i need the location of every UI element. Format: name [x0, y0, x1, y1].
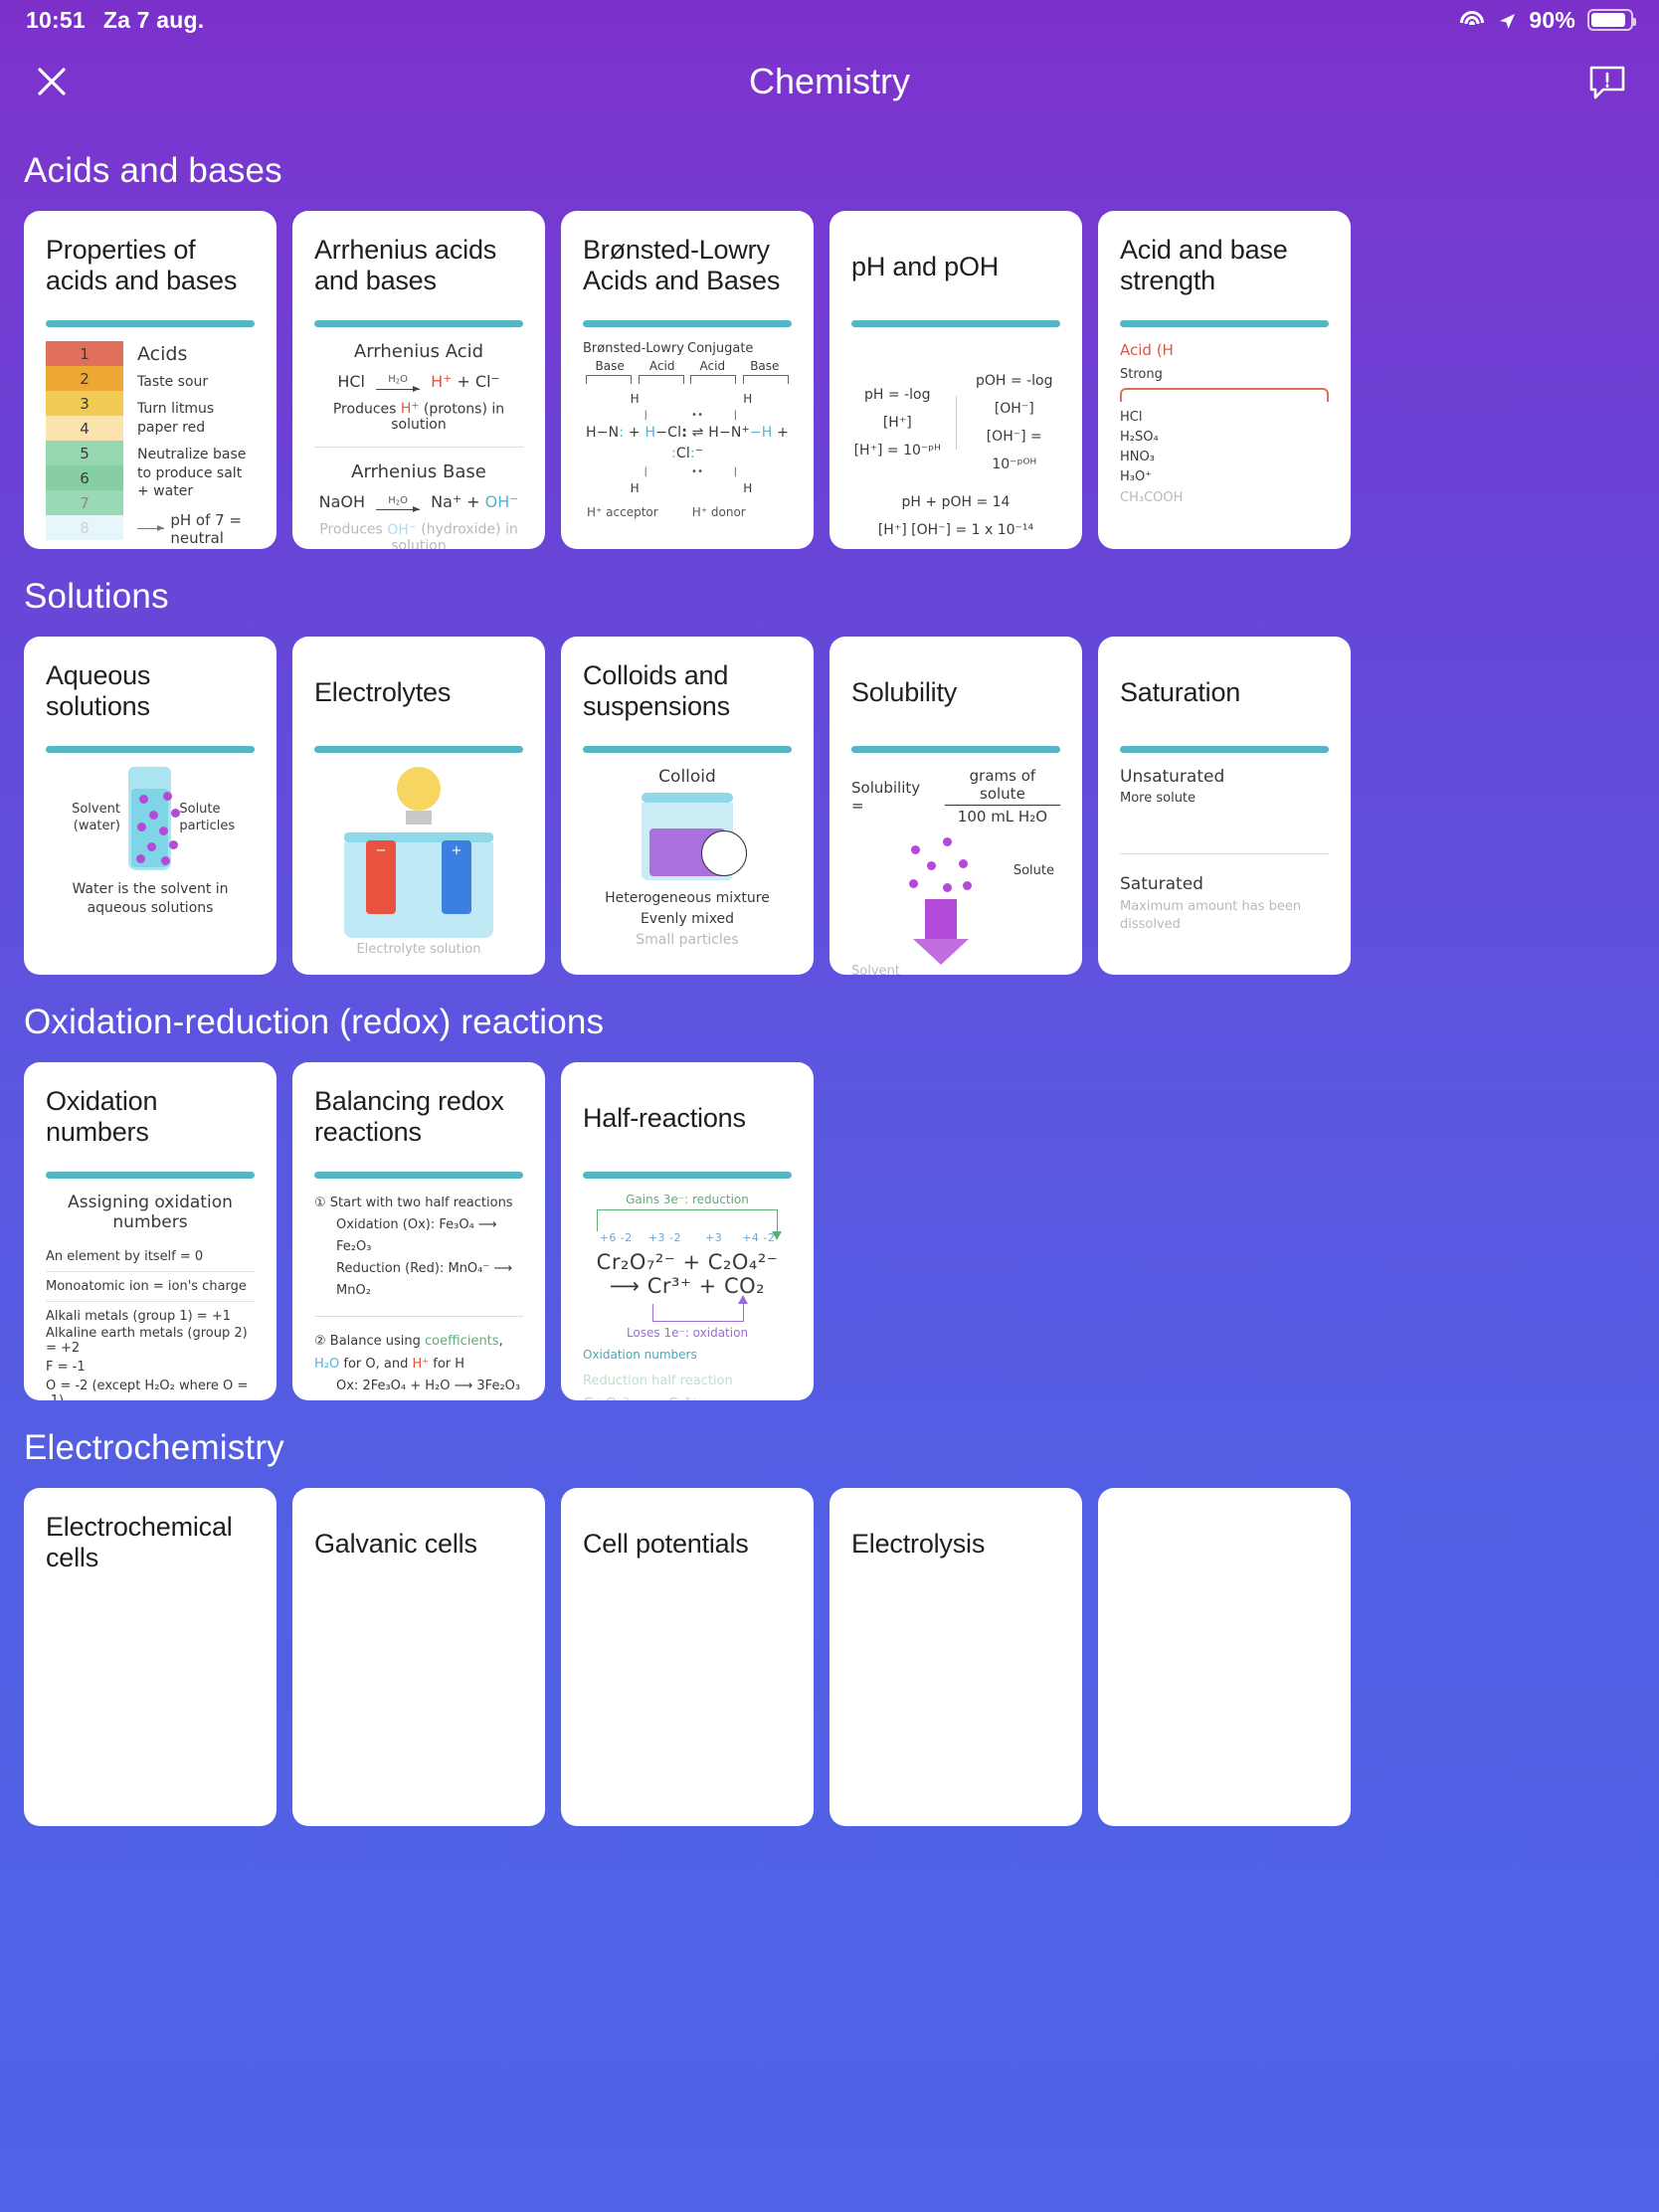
ph-cell: 7 — [46, 490, 123, 515]
rule-item: O = -2 (except H₂O₂ where O = -1) — [46, 1377, 255, 1400]
electrolyte-diagram: − + Electrolyte solution — [314, 767, 523, 957]
card-title: Brønsted-Lowry Acids and Bases — [583, 235, 792, 300]
card-title: Balancing redox reactions — [314, 1086, 523, 1152]
card-title: Colloids and suspensions — [583, 660, 792, 726]
card-ph-and-poh[interactable]: pH and pOH pH = -log [H⁺] [H⁺] = 10⁻ᵖᴴ p… — [829, 211, 1082, 549]
ph-cell: 1 — [46, 341, 123, 366]
battery-percent: 90% — [1529, 7, 1575, 34]
card-title: Galvanic cells — [314, 1512, 523, 1577]
step-1-oxidation: Oxidation (Ox): Fe₃O₄ ⟶ Fe₂O₃ — [314, 1214, 523, 1258]
section-title-acids: Acids and bases — [24, 151, 1659, 191]
accent-rule — [583, 320, 792, 327]
colloid-line: Heterogeneous mixture — [583, 890, 792, 906]
rule-item: Alkaline earth metals (group 2) = +2 — [46, 1324, 255, 1358]
lightbulb-icon — [397, 767, 441, 811]
denominator: 100 mL H₂O — [945, 808, 1060, 826]
formula-poh: pOH = -log [OH⁻] — [969, 367, 1061, 423]
formula-oh-conc: [OH⁻] = 10⁻ᵖᴼᴴ — [969, 423, 1061, 478]
card-row-electrochemistry[interactable]: Electrochemical cells Galvanic cells Cel… — [0, 1488, 1659, 1826]
saturation-row-title: Unsaturated — [1120, 767, 1329, 787]
card-arrhenius-acids-and-bases[interactable]: Arrhenius acids and bases Arrhenius Acid… — [292, 211, 545, 549]
card-title: Arrhenius acids and bases — [314, 235, 523, 300]
status-bar: 10:51 Za 7 aug. 90% — [0, 0, 1659, 40]
step-1: ① Start with two half reactions — [314, 1193, 523, 1214]
ph-cell: 6 — [46, 465, 123, 490]
solubility-formula: Solubility = grams of solute 100 mL H₂O — [851, 767, 1060, 826]
numerator: grams of solute — [945, 767, 1060, 803]
step-2-oxidation: Ox: 2Fe₃O₄ + H₂O ⟶ 3Fe₂O₃ + 2H⁺ — [314, 1376, 523, 1400]
accent-rule — [583, 746, 792, 753]
reaction-arrow-icon: H2O — [376, 496, 420, 510]
ph-poh-formulas: pH = -log [H⁺] [H⁺] = 10⁻ᵖᴴ pOH = -log [… — [851, 341, 1060, 544]
arrhenius-acid-heading: Arrhenius Acid — [314, 341, 523, 362]
acid-strength-table: Acid (H Strong HCl H₂SO₄ HNO₃ H₃O⁺ CH₃CO… — [1120, 341, 1329, 508]
battery-icon — [1587, 9, 1633, 31]
card-colloids-and-suspensions[interactable]: Colloids and suspensions Colloid Heterog… — [561, 637, 814, 975]
balancing-steps: ① Start with two half reactions Oxidatio… — [314, 1193, 523, 1400]
ph-cell: 2 — [46, 366, 123, 391]
saturation-row-sub: More solute — [1120, 791, 1329, 806]
card-electrolytes[interactable]: Electrolytes − + Electrolyte solution — [292, 637, 545, 975]
caption: Water is the solvent in aqueous solution… — [46, 880, 255, 918]
reduction-label: Gains 3e⁻: reduction — [583, 1193, 792, 1206]
accent-rule — [851, 320, 1060, 327]
card-aqueous-solutions[interactable]: Aqueous solutions Solvent (water) Solute… — [24, 637, 276, 975]
colloid-diagram: Colloid Heterogeneous mixture Evenly mix… — [583, 767, 792, 948]
card-title: Electrolytes — [314, 660, 523, 726]
accent-rule — [314, 746, 523, 753]
arrow-down-icon — [925, 899, 957, 941]
half-reaction-diagram: Gains 3e⁻: reduction +6 -2 +3 -2 +3 +4 -… — [583, 1193, 792, 1400]
acid-item: HCl — [1120, 408, 1329, 428]
page-title: Chemistry — [0, 61, 1659, 102]
card-cell-potentials[interactable]: Cell potentials — [561, 1488, 814, 1826]
card-row-redox[interactable]: Oxidation numbers Assigning oxidation nu… — [0, 1062, 1659, 1400]
section-title-electrochemistry: Electrochemistry — [24, 1428, 1659, 1468]
step-2: ② Balance using coefficients, H₂O for O,… — [314, 1331, 523, 1375]
formula-kw: [H⁺] [OH⁻] = 1 x 10⁻¹⁴ — [851, 516, 1060, 544]
colloid-heading: Colloid — [583, 767, 792, 787]
neutral-note: pH of 7 = neutral — [137, 511, 255, 547]
accent-rule — [314, 320, 523, 327]
card-title: Half-reactions — [583, 1086, 792, 1152]
arrhenius-acid-equation: HCl H2O H+ + Cl− — [314, 372, 523, 391]
side-label: Oxidation numbers — [583, 1348, 792, 1362]
ph-cell: 4 — [46, 416, 123, 441]
accent-rule — [46, 320, 255, 327]
formula-sum: pH + pOH = 14 — [851, 488, 1060, 516]
rules-heading: Assigning oxidation numbers — [46, 1193, 255, 1232]
electrode-positive: + — [442, 840, 471, 914]
accent-rule — [314, 1172, 523, 1179]
half-reaction-equation: Cr₂O₇²⁻ ⟶ Cr³⁺ — [583, 1394, 792, 1400]
accent-rule — [46, 746, 255, 753]
saturation-row-title: Saturated — [1120, 874, 1329, 894]
formula-h-conc: [H⁺] = 10⁻ᵖᴴ — [851, 437, 944, 464]
arrhenius-base-equation: NaOH H2O Na+ + OH− — [314, 492, 523, 511]
colloid-beaker-icon — [642, 793, 733, 880]
card-title: Solubility — [851, 660, 1060, 726]
footer-labels: H⁺ acceptor H⁺ donor — [583, 505, 792, 519]
section-title-solutions: Solutions — [24, 577, 1659, 617]
location-arrow-icon — [1497, 10, 1517, 30]
half-reaction-label: Reduction half reaction — [583, 1374, 792, 1388]
card-title: Aqueous solutions — [46, 660, 255, 726]
electrode-negative: − — [366, 840, 396, 914]
arrhenius-diagram: Arrhenius Acid HCl H2O H+ + Cl− Produces… — [314, 341, 523, 549]
card-row-solutions[interactable]: Aqueous solutions Solvent (water) Solute… — [0, 637, 1659, 975]
reaction-arrow-icon: H2O — [376, 375, 420, 389]
accent-rule — [46, 1172, 255, 1179]
species-labels: Base Acid Acid Base — [583, 359, 792, 373]
acid-item: H₂SO₄ — [1120, 428, 1329, 448]
card-title: pH and pOH — [851, 235, 1060, 300]
accent-rule — [583, 1172, 792, 1179]
card-title: Oxidation numbers — [46, 1086, 255, 1152]
card-electrochemical-cells[interactable]: Electrochemical cells — [24, 1488, 276, 1826]
caption: Electrolyte solution — [314, 942, 523, 957]
redox-equation: Cr₂O₇²⁻ + C₂O₄²⁻ ⟶ Cr³⁺ + CO₂ — [583, 1250, 792, 1298]
ph-cell: 5 — [46, 441, 123, 465]
section-title-redox: Oxidation-reduction (redox) reactions — [24, 1003, 1659, 1042]
lewis-structure-equation: H H | •• | H−N: + H−Cl: ⇌ H−N+−H + :Cl:−… — [583, 390, 792, 497]
acid-item: CH₃COOH — [1120, 488, 1329, 508]
navigation-bar: Chemistry — [0, 40, 1659, 123]
card-half-reactions[interactable]: Half-reactions Gains 3e⁻: reduction +6 -… — [561, 1062, 814, 1400]
card-properties-of-acids-and-bases[interactable]: Properties of acids and bases 1 2 3 4 5 … — [24, 211, 276, 549]
colloid-line: Evenly mixed — [583, 911, 792, 927]
close-icon[interactable] — [26, 56, 78, 107]
sub-heading: Strong — [1120, 367, 1329, 382]
card-title: Properties of acids and bases — [46, 235, 255, 300]
oxidation-label: Loses 1e⁻: oxidation — [583, 1326, 792, 1340]
status-time: 10:51 — [26, 7, 86, 34]
card-saturation[interactable]: Saturation Unsaturated More solute Satur… — [1098, 637, 1351, 975]
ph-scale-diagram: 1 2 3 4 5 6 7 8 Acids Taste sour Turn li… — [46, 341, 255, 547]
label-solvent: Solvent (water) — [46, 802, 120, 835]
divider — [956, 396, 957, 450]
card-title: Acid and base strength — [1120, 235, 1329, 300]
rule-item: An element by itself = 0 — [46, 1242, 255, 1271]
formula-split: pH = -log [H⁺] [H⁺] = 10⁻ᵖᴴ pOH = -log [… — [851, 367, 1060, 478]
formula-bottom: pH + pOH = 14 [H⁺] [OH⁻] = 1 x 10⁻¹⁴ — [851, 488, 1060, 544]
card-title: Electrochemical cells — [46, 1512, 255, 1577]
arrow-icon — [137, 528, 164, 529]
oxidation-rules: Assigning oxidation numbers An element b… — [46, 1193, 255, 1400]
accent-rule — [851, 746, 1060, 753]
arrhenius-acid-note: Produces H+ (protons) in solution — [314, 401, 523, 433]
card-placeholder[interactable] — [1098, 1488, 1351, 1826]
card-acid-and-base-strength[interactable]: Acid and base strength Acid (H Strong HC… — [1098, 211, 1351, 549]
brackets — [583, 375, 792, 384]
arrhenius-base-note: Produces OH− (hydroxide) in solution — [314, 521, 523, 549]
card-electrolysis[interactable]: Electrolysis — [829, 1488, 1082, 1826]
card-title: Saturation — [1120, 660, 1329, 726]
card-balancing-redox-reactions[interactable]: Balancing redox reactions ① Start with t… — [292, 1062, 545, 1400]
card-title: Cell potentials — [583, 1512, 792, 1577]
status-date: Za 7 aug. — [103, 7, 205, 34]
card-solubility[interactable]: Solubility Solubility = grams of solute … — [829, 637, 1082, 975]
step-1-reduction: Reduction (Red): MnO₄⁻ ⟶ MnO₂ — [314, 1258, 523, 1302]
acids-heading: Acids — [137, 343, 255, 365]
arrhenius-base-heading: Arrhenius Base — [314, 461, 523, 482]
feedback-icon[interactable] — [1581, 56, 1633, 107]
saturation-rows: Unsaturated More solute Saturated Maximu… — [1120, 767, 1329, 933]
saturation-row-sub: Maximum amount has been dissolved — [1120, 898, 1329, 933]
accent-rule — [1120, 746, 1329, 753]
label-solute: Solute particles — [179, 802, 255, 835]
acid-item: HNO₃ — [1120, 448, 1329, 467]
bronsted-lowry-diagram: Brønsted-Lowry Conjugate Base Acid Acid … — [583, 341, 792, 519]
acid-point: Taste sour — [137, 373, 255, 391]
beaker-icon — [128, 767, 171, 870]
card-oxidation-numbers[interactable]: Oxidation numbers Assigning oxidation nu… — [24, 1062, 276, 1400]
divider — [314, 447, 523, 448]
card-row-acids[interactable]: Properties of acids and bases 1 2 3 4 5 … — [0, 211, 1659, 549]
ph-scale: 1 2 3 4 5 6 7 8 — [46, 341, 123, 547]
formula-ph: pH = -log [H⁺] — [851, 381, 944, 437]
acid-point: Neutralize base to produce salt + water — [137, 446, 255, 500]
solubility-diagram: Solubility = grams of solute 100 mL H₂O … — [851, 767, 1060, 975]
colloid-line: Small particles — [583, 932, 792, 948]
acid-point: Turn litmus paper red — [137, 400, 255, 437]
reduction-bracket-icon — [597, 1209, 778, 1231]
wifi-icon — [1459, 10, 1485, 30]
ph-cell: 3 — [46, 391, 123, 416]
rule-item: Alkali metals (group 1) = +1 — [46, 1302, 255, 1324]
rule-item: F = -1 — [46, 1358, 255, 1377]
label-solute: Solute — [1014, 863, 1054, 878]
oxidation-numbers-row: +6 -2 +3 -2 +3 +4 -2 — [583, 1231, 792, 1244]
ph-cell: 8 — [46, 515, 123, 540]
card-galvanic-cells[interactable]: Galvanic cells — [292, 1488, 545, 1826]
card-bronsted-lowry-acids-and-bases[interactable]: Brønsted-Lowry Acids and Bases Brønsted-… — [561, 211, 814, 549]
acid-item: H₃O⁺ — [1120, 467, 1329, 487]
label-solvent: Solvent — [851, 964, 900, 975]
strength-bracket — [1120, 388, 1329, 402]
rule-item: Monoatomic ion = ion's charge — [46, 1272, 255, 1301]
oxidation-bracket-icon — [652, 1304, 744, 1322]
group-labels: Brønsted-Lowry Conjugate — [583, 341, 792, 356]
card-title: Electrolysis — [851, 1512, 1060, 1577]
accent-rule — [1120, 320, 1329, 327]
column-heading: Acid (H — [1120, 341, 1329, 359]
aqueous-diagram: Solvent (water) Solute particles Water i… — [46, 767, 255, 918]
